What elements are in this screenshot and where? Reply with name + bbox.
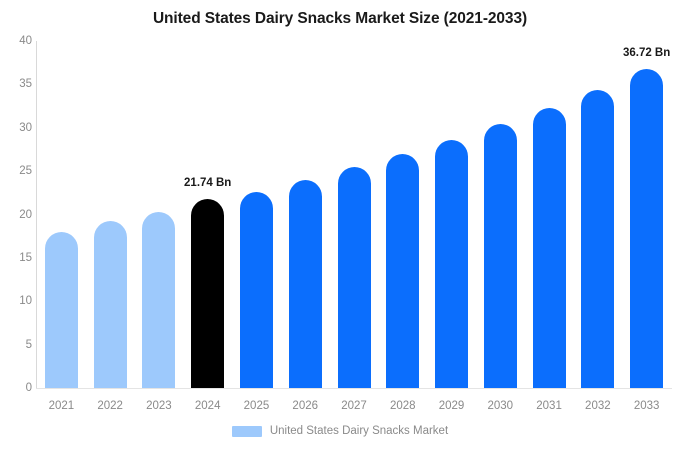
bar-value-label: 21.74 Bn xyxy=(184,177,231,189)
y-axis-tick-label: 10 xyxy=(2,295,32,307)
x-axis-tick-label: 2028 xyxy=(390,400,416,412)
x-axis-tick-label: 2033 xyxy=(634,400,660,412)
bar[interactable] xyxy=(386,154,419,388)
x-axis-line xyxy=(36,388,672,389)
y-axis-tick-label: 15 xyxy=(2,252,32,264)
bar[interactable] xyxy=(289,180,322,388)
y-axis-tick-label: 20 xyxy=(2,209,32,221)
y-axis-tick-label: 0 xyxy=(2,382,32,394)
y-axis-ticks: 0510152025303540 xyxy=(0,0,32,450)
bar[interactable] xyxy=(142,212,175,388)
y-axis-tick-label: 5 xyxy=(2,339,32,351)
plot-area xyxy=(37,41,671,388)
y-axis-tick-label: 25 xyxy=(2,165,32,177)
y-axis-tick-label: 40 xyxy=(2,35,32,47)
bar[interactable] xyxy=(94,221,127,388)
bar[interactable] xyxy=(191,199,224,388)
y-axis-tick-label: 35 xyxy=(2,78,32,90)
bar[interactable] xyxy=(338,167,371,388)
bar[interactable] xyxy=(581,90,614,388)
y-axis-tick-label: 30 xyxy=(2,122,32,134)
chart-legend: United States Dairy Snacks Market xyxy=(0,425,680,437)
x-axis-tick-label: 2029 xyxy=(439,400,465,412)
legend-label[interactable]: United States Dairy Snacks Market xyxy=(270,425,448,437)
bar[interactable] xyxy=(630,69,663,388)
x-axis-tick-label: 2026 xyxy=(292,400,318,412)
page-title: United States Dairy Snacks Market Size (… xyxy=(0,10,680,28)
bar-value-label: 36.72 Bn xyxy=(623,47,670,59)
bar-chart: United States Dairy Snacks Market Size (… xyxy=(0,0,680,450)
x-axis-tick-label: 2024 xyxy=(195,400,221,412)
x-axis-tick-label: 2025 xyxy=(244,400,270,412)
x-axis-tick-label: 2031 xyxy=(536,400,562,412)
bar[interactable] xyxy=(45,232,78,388)
legend-color-swatch xyxy=(232,426,262,437)
bar[interactable] xyxy=(435,140,468,388)
bar[interactable] xyxy=(484,124,517,388)
x-axis-tick-label: 2023 xyxy=(146,400,172,412)
x-axis-tick-label: 2021 xyxy=(49,400,75,412)
x-axis-tick-label: 2030 xyxy=(488,400,514,412)
x-axis-tick-label: 2032 xyxy=(585,400,611,412)
x-axis-tick-label: 2022 xyxy=(97,400,123,412)
x-axis-tick-label: 2027 xyxy=(341,400,367,412)
bar[interactable] xyxy=(533,108,566,388)
bar[interactable] xyxy=(240,192,273,388)
